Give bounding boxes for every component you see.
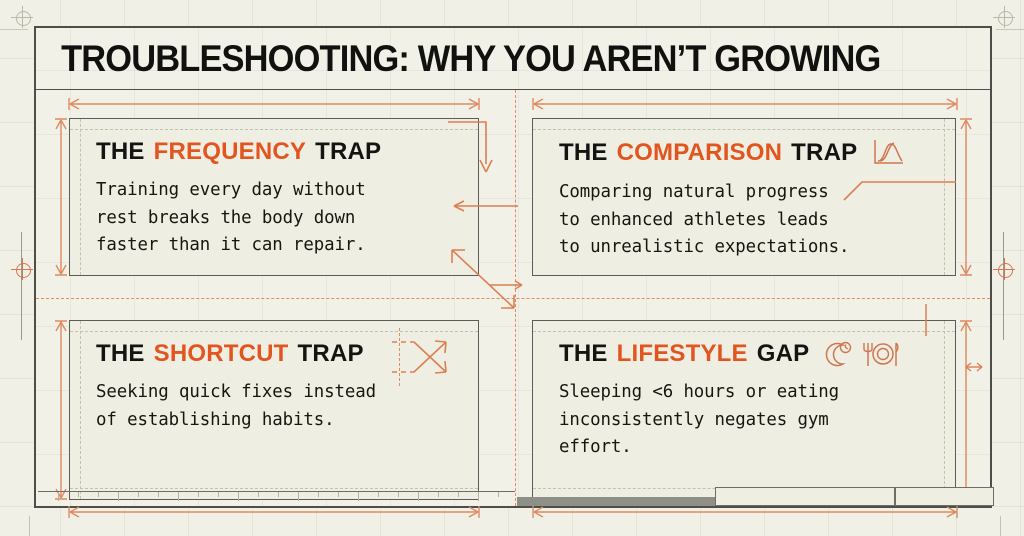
top-left-dimension-arrow	[64, 96, 484, 112]
top-left-registration-mark	[11, 6, 33, 28]
right-height-dimension-arrow	[958, 114, 974, 280]
sleep-moon-clock-icon	[823, 340, 855, 368]
heading-prefix: THE	[96, 138, 145, 166]
heading-keyword: COMPARISON	[617, 139, 783, 167]
heading-prefix: THE	[559, 139, 608, 167]
margin-rule-tl	[0, 29, 28, 30]
card-text: Seeking quick fixes instead of establish…	[96, 379, 456, 434]
card-body: THE LIFESTYLE GAP	[533, 321, 955, 462]
meal-cutlery-icon	[859, 340, 901, 368]
card-frequency-trap[interactable]: THE FREQUENCY TRAP Training every day wi…	[69, 118, 479, 276]
bottom-strip	[36, 466, 990, 506]
bottom-right-dimension-arrow	[528, 504, 962, 520]
right-mid-registration-mark	[993, 258, 1015, 280]
horizontal-dashed-divider	[36, 298, 990, 299]
heading-prefix: THE	[96, 340, 145, 368]
title-bar: TROUBLESHOOTING: WHY YOU AREN’T GROWING	[36, 28, 990, 90]
heading-keyword: SHORTCUT	[154, 340, 289, 368]
heading-suffix: TRAP	[298, 340, 364, 368]
top-right-registration-mark	[993, 6, 1015, 28]
small-double-arrow-decoration	[962, 360, 986, 374]
vertical-dashed-divider	[515, 90, 516, 506]
growth-curve-chart-icon	[871, 138, 905, 168]
slide-canvas: TROUBLESHOOTING: WHY YOU AREN’T GROWING	[0, 0, 1024, 536]
left-margin-rule	[21, 232, 22, 340]
right-margin-rule	[1003, 232, 1004, 340]
page-title: TROUBLESHOOTING: WHY YOU AREN’T GROWING	[36, 38, 880, 80]
main-board: TROUBLESHOOTING: WHY YOU AREN’T GROWING	[34, 26, 992, 508]
card-body: THE COMPARISON TRAP Co	[533, 119, 955, 262]
heading-prefix: THE	[559, 340, 608, 368]
measurement-ruler	[38, 491, 515, 506]
heading-keyword: LIFESTYLE	[617, 340, 748, 368]
segment-block-a[interactable]	[715, 487, 895, 506]
card-body: THE FREQUENCY TRAP Training every day wi…	[70, 119, 478, 260]
card-heading: THE FREQUENCY TRAP	[96, 138, 456, 166]
heading-suffix: TRAP	[791, 139, 857, 167]
card-comparison-trap[interactable]: THE COMPARISON TRAP Co	[532, 118, 956, 276]
card-text: Training every day without rest breaks t…	[96, 177, 456, 260]
card-heading: THE COMPARISON TRAP	[559, 138, 933, 168]
right-pointing-arrow-decoration	[488, 278, 528, 292]
top-right-dimension-arrow	[528, 96, 962, 112]
bottom-right-margin-tick	[1000, 516, 1001, 536]
margin-rule-tr	[996, 29, 1024, 30]
segment-block-b[interactable]	[895, 487, 994, 506]
left-height-dimension-arrow	[53, 114, 69, 280]
heading-suffix: TRAP	[315, 138, 381, 166]
heading-keyword: FREQUENCY	[154, 138, 306, 166]
card-text: Sleeping <6 hours or eating inconsistent…	[559, 379, 933, 462]
left-mid-registration-mark	[11, 258, 33, 280]
bottom-left-margin-tick	[29, 516, 30, 536]
heading-suffix: GAP	[757, 340, 810, 368]
progress-bar-fill	[517, 497, 715, 506]
card-body: THE SHORTCUT TRAP Seeking quick fixes in…	[70, 321, 478, 434]
card-heading: THE SHORTCUT TRAP	[96, 340, 456, 368]
card-heading: THE LIFESTYLE GAP	[559, 340, 933, 368]
cards-region: THE FREQUENCY TRAP Training every day wi…	[36, 90, 990, 506]
card-text: Comparing natural progress to enhanced a…	[559, 179, 933, 262]
bottom-left-dimension-arrow	[64, 504, 484, 520]
